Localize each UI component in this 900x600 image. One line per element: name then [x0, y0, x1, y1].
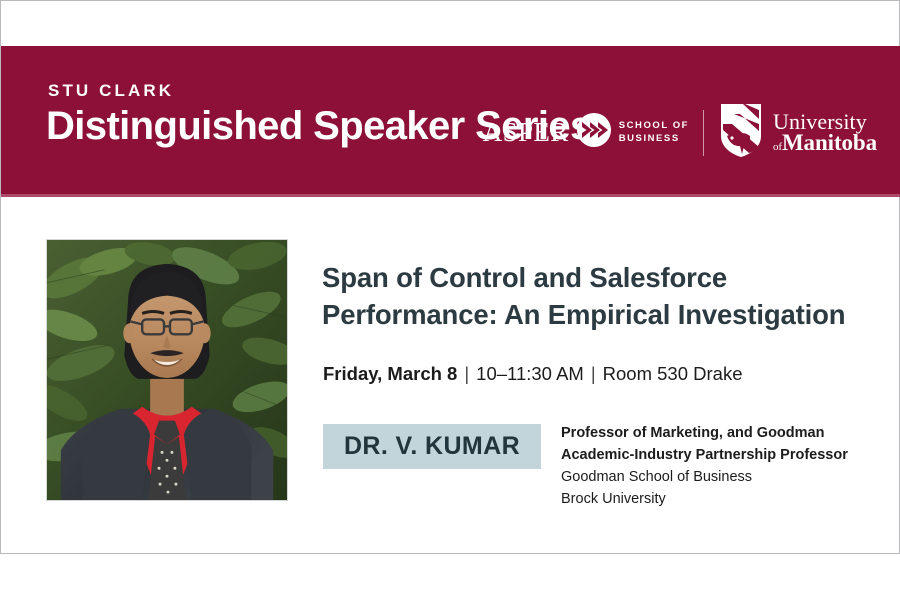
- event-separator-2: |: [584, 363, 603, 384]
- logo-divider: [703, 110, 704, 156]
- speaker-affiliation-line-4: Brock University: [561, 488, 848, 510]
- event-room: Room 530 Drake: [603, 363, 743, 384]
- speaker-affiliation-line-2: Academic-Industry Partnership Professor: [561, 444, 848, 466]
- speaker-name: DR. V. KUMAR: [344, 432, 520, 461]
- asper-school-of-business-logo: ASPER SCHOOL OF BUSINESS: [483, 112, 689, 153]
- event-separator-1: |: [457, 363, 476, 384]
- speaker-affiliation-line-1: Professor of Marketing, and Goodman: [561, 422, 848, 444]
- university-of-manitoba-logo: University ofManitoba: [718, 102, 877, 163]
- uofm-wordmark: University ofManitoba: [773, 111, 877, 155]
- uofm-wordmark-line-1: University: [773, 111, 877, 132]
- series-kicker: STU CLARK: [48, 82, 592, 99]
- talk-title-line-2: Performance: An Empirical Investigation: [322, 296, 867, 333]
- logo-lockup: ASPER SCHOOL OF BUSINESS: [483, 102, 877, 163]
- talk-title: Span of Control and Salesforce Performan…: [322, 259, 867, 334]
- asper-wordmark: ASPER: [483, 119, 569, 146]
- event-time: 10–11:30 AM: [476, 363, 584, 384]
- asper-sub-line-2: BUSINESS: [619, 133, 689, 146]
- event-date: Friday, March 8: [323, 363, 457, 384]
- uofm-wordmark-manitoba: Manitoba: [782, 130, 877, 155]
- speaker-affiliation: Professor of Marketing, and Goodman Acad…: [561, 422, 848, 510]
- banner-underline: [1, 194, 900, 197]
- series-banner: STU CLARK Distinguished Speaker Series A…: [1, 46, 900, 196]
- speaker-affiliation-line-3: Goodman School of Business: [561, 466, 848, 488]
- talk-title-line-1: Span of Control and Salesforce: [322, 259, 867, 296]
- speaker-name-box: DR. V. KUMAR: [323, 424, 541, 469]
- uofm-wordmark-of: of: [773, 141, 782, 153]
- event-details: Friday, March 8|10–11:30 AM|Room 530 Dra…: [323, 363, 742, 385]
- asper-sub-line-1: SCHOOL OF: [619, 120, 689, 133]
- uofm-wordmark-line-2: ofManitoba: [773, 132, 877, 154]
- asper-chevron-circle-icon: [576, 112, 612, 153]
- asper-sub-wordmark: SCHOOL OF BUSINESS: [619, 120, 689, 145]
- speaker-photo: [46, 239, 288, 501]
- event-poster: STU CLARK Distinguished Speaker Series A…: [0, 0, 900, 554]
- uofm-bison-shield-icon: [718, 102, 764, 163]
